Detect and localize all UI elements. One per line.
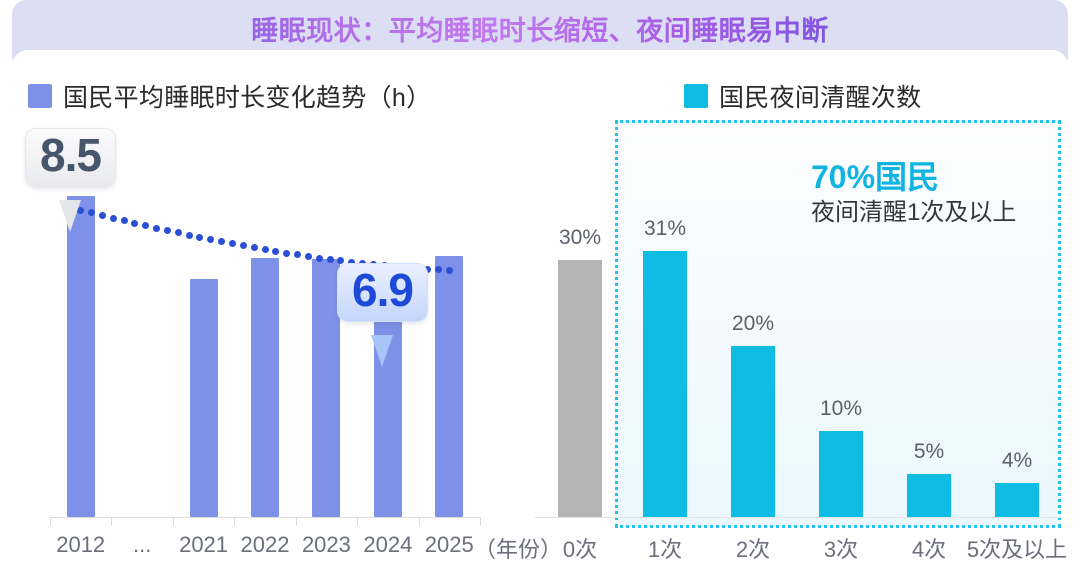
trendline-dot [142,222,149,229]
trendline-dot [294,251,301,258]
trendline-dot [262,246,269,253]
trendline-dot [240,242,247,249]
x-axis-tick [234,517,235,526]
trendline-dot [153,225,160,232]
highlight-annotation: 70%国民 夜间清醒1次及以上 [811,158,1051,228]
bar-2次 [731,346,775,517]
trendline-dot [316,255,323,262]
right-x-axis-line [535,517,1065,518]
value-label-4次: 5% [884,440,974,464]
trendline-dot [229,240,236,247]
bar-2012 [67,196,95,517]
bar-2025 [435,256,463,517]
trendline-dot [446,267,453,274]
trendline-dot [131,220,138,227]
x-axis-tick [357,517,358,526]
trendline-dot [251,244,258,251]
trendline-dot [99,212,106,219]
legend-night-awakenings: 国民夜间清醒次数 [684,78,921,114]
trendline-dot [207,236,214,243]
x-axis-tick [173,517,174,526]
callout-start-value: 8.5 [25,128,116,187]
bar-0次 [558,260,602,517]
x-axis-tick [296,517,297,526]
annotation-headline: 70%国民 [811,158,1051,197]
bar-2022 [251,258,279,517]
bar-2024 [374,292,402,517]
bar-2021 [190,279,218,517]
trendline-dot [218,238,225,245]
trendline-dot [186,232,193,239]
trendline-dot [164,227,171,234]
x-label-5次及以上: 5次及以上 [962,532,1072,564]
chart-night-awakenings: 30%31%20%10%5%4% 70%国民 夜间清醒1次及以上 0次1次2次3… [535,120,1065,560]
x-axis-tick [480,517,481,526]
legend-label-sleep-duration: 国民平均睡眠时长变化趋势（h） [63,78,431,114]
callout-end-box: 6.9 [337,263,428,322]
value-label-2次: 20% [708,312,798,336]
trendline-dot [305,253,312,260]
value-label-5次及以上: 4% [972,449,1062,473]
bar-5次及以上 [995,483,1039,517]
trendline-dot [327,256,334,263]
legend-label-night-awakenings: 国民夜间清醒次数 [719,78,921,114]
value-label-3次: 10% [796,397,886,421]
bar-4次 [907,474,951,517]
x-axis-tick [50,517,51,526]
trendline-dot [121,217,128,224]
trendline-dot [283,250,290,257]
callout-end-pointer [371,335,393,367]
annotation-subline: 夜间清醒1次及以上 [811,197,1051,228]
legend-swatch-purple [28,84,52,108]
trendline-dot [110,215,117,222]
bar-3次 [819,431,863,517]
value-label-1次: 31% [620,217,710,241]
x-axis-tick [111,517,112,526]
legend-swatch-cyan [684,84,708,108]
page-title: 睡眠现状：平均睡眠时长缩短、夜间睡眠易中断 [12,0,1068,56]
value-label-0次: 30% [535,226,625,250]
left-x-axis-labels: 2012...20212022202320242025（年份） [30,532,500,572]
callout-start-pointer [59,200,81,232]
x-axis-tick [419,517,420,526]
callout-start-box: 8.5 [25,128,116,187]
trendline-dot [175,229,182,236]
legend-sleep-duration: 国民平均睡眠时长变化趋势（h） [28,78,431,114]
callout-end-value: 6.9 [337,263,428,322]
infographic-root: 睡眠现状：平均睡眠时长缩短、夜间睡眠易中断 国民平均睡眠时长变化趋势（h） 国民… [0,0,1080,577]
trendline-dot [272,248,279,255]
bar-1次 [643,251,687,517]
right-x-axis-labels: 0次1次2次3次4次5次及以上 [535,532,1065,572]
trendline-dot [196,234,203,241]
left-x-axis-line [50,517,480,518]
